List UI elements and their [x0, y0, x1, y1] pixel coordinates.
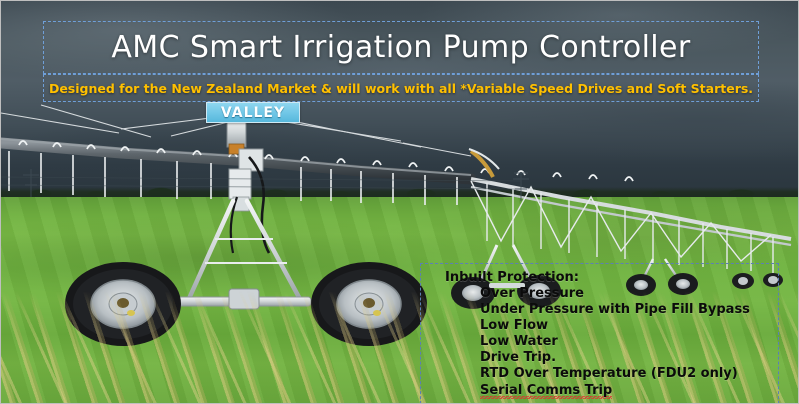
inbuilt-protection-textbox[interactable]: Inbuilt Protection: Over Pressure Under … — [420, 263, 779, 404]
list-item: Low Flow — [480, 318, 778, 334]
protection-list: Over Pressure Under Pressure with Pipe F… — [421, 286, 778, 399]
page-title: AMC Smart Irrigation Pump Controller — [111, 30, 690, 65]
list-item: Over Pressure — [480, 286, 778, 302]
list-item: Under Pressure with Pipe Fill Bypass — [480, 302, 778, 318]
valley-brand-sign: VALLEY — [206, 102, 300, 123]
subtitle-text: Designed for the New Zealand Market & wi… — [49, 81, 753, 96]
list-item: Serial Comms Trip — [480, 383, 778, 399]
list-item: Drive Trip. — [480, 350, 778, 366]
misspelled-text: Serial Comms Trip — [480, 383, 612, 399]
list-item: RTD Over Temperature (FDU2 only) — [480, 366, 778, 382]
subtitle-textbox[interactable]: Designed for the New Zealand Market & wi… — [43, 74, 759, 102]
protection-heading: Inbuilt Protection: — [445, 270, 778, 285]
title-textbox[interactable]: AMC Smart Irrigation Pump Controller — [43, 21, 759, 74]
list-item: Low Water — [480, 334, 778, 350]
slide-canvas: VALLEY AMC Smart Irrigation Pump Control… — [0, 0, 799, 404]
valley-brand-label: VALLEY — [221, 105, 285, 121]
